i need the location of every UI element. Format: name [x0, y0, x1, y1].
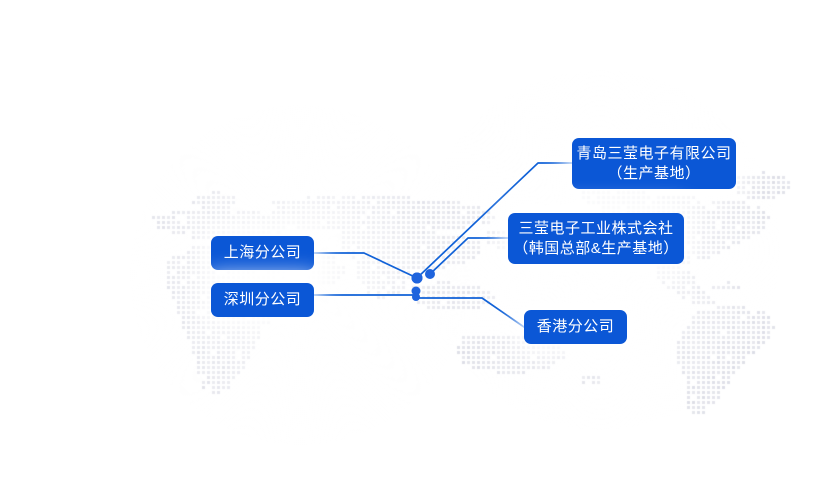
label-shanghai[interactable]: 上海分公司 — [211, 236, 314, 270]
label-qingdao[interactable]: 青岛三莹电子有限公司（生产基地） — [572, 138, 736, 189]
world-map-background — [0, 0, 824, 480]
label-qingdao-line-2: （生产基地） — [607, 164, 700, 183]
label-qingdao-line-1: 青岛三莹电子有限公司 — [576, 144, 731, 163]
map-point-shanghai[interactable] — [412, 273, 423, 284]
label-shanghai-line-1: 上海分公司 — [224, 243, 302, 262]
dotted-world-map-canvas — [0, 0, 824, 480]
map-point-korea[interactable] — [425, 269, 435, 279]
label-hongkong-line-1: 香港分公司 — [537, 317, 615, 336]
label-shenzhen[interactable]: 深圳分公司 — [211, 283, 314, 317]
label-shenzhen-line-1: 深圳分公司 — [224, 290, 302, 309]
map-point-hongkong[interactable] — [412, 293, 420, 301]
label-hongkong[interactable]: 香港分公司 — [524, 310, 627, 344]
label-korea-hq-line-1: 三莹电子工业株式会社 — [518, 219, 673, 238]
label-korea-hq[interactable]: 三莹电子工业株式会社（韩国总部&生产基地） — [508, 213, 684, 264]
global-locations-map: 青岛三莹电子有限公司（生产基地）三莹电子工业株式会社（韩国总部&生产基地）上海分… — [0, 0, 824, 480]
label-korea-hq-line-2: （韩国总部&生产基地） — [513, 239, 679, 258]
